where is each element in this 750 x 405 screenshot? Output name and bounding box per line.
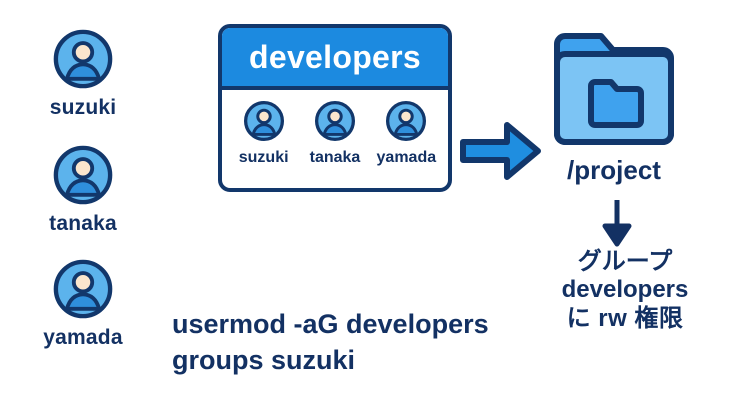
- user-entry-tanaka: tanaka: [18, 144, 148, 235]
- group-member-name-label: tanaka: [300, 150, 370, 167]
- user-name-label: suzuki: [18, 97, 148, 119]
- group-member-tanaka: tanaka: [300, 100, 370, 167]
- command-text: usermod -aG developers groups suzuki: [172, 306, 489, 379]
- permission-note-line-2: developers: [540, 276, 710, 304]
- user-entry-suzuki: suzuki: [18, 28, 148, 119]
- group-member-list: suzuki tanaka: [222, 90, 448, 167]
- user-avatar-icon: [243, 129, 285, 146]
- user-avatar-icon: [385, 129, 427, 146]
- user-avatar-icon: [18, 28, 148, 95]
- diagram-canvas: suzuki tanaka yamada developers: [0, 0, 750, 405]
- user-name-label: yamada: [18, 327, 148, 349]
- folder-entry: /project: [548, 28, 680, 184]
- group-member-yamada: yamada: [371, 100, 441, 167]
- user-avatar-icon: [18, 144, 148, 211]
- user-name-label: tanaka: [18, 213, 148, 235]
- arrow-down-icon: [602, 200, 632, 248]
- user-avatar-icon: [18, 258, 148, 325]
- permission-note-line-3: に rw 権限: [540, 305, 710, 333]
- arrow-right-icon: [459, 118, 543, 184]
- group-member-name-label: suzuki: [229, 150, 299, 167]
- command-line-1: usermod -aG developers: [172, 306, 489, 342]
- group-member-suzuki: suzuki: [229, 100, 299, 167]
- user-avatar-icon: [314, 129, 356, 146]
- permission-note: グループ developers に rw 権限: [540, 248, 710, 333]
- command-line-2: groups suzuki: [172, 342, 489, 378]
- permission-note-line-1: グループ: [540, 248, 710, 276]
- user-entry-yamada: yamada: [18, 258, 148, 349]
- group-name-label: developers: [249, 41, 421, 73]
- folder-icon: [551, 137, 677, 154]
- group-member-name-label: yamada: [371, 150, 441, 167]
- group-card: developers suzuki: [218, 24, 452, 192]
- folder-path-label: /project: [548, 157, 680, 184]
- group-card-header: developers: [222, 28, 448, 90]
